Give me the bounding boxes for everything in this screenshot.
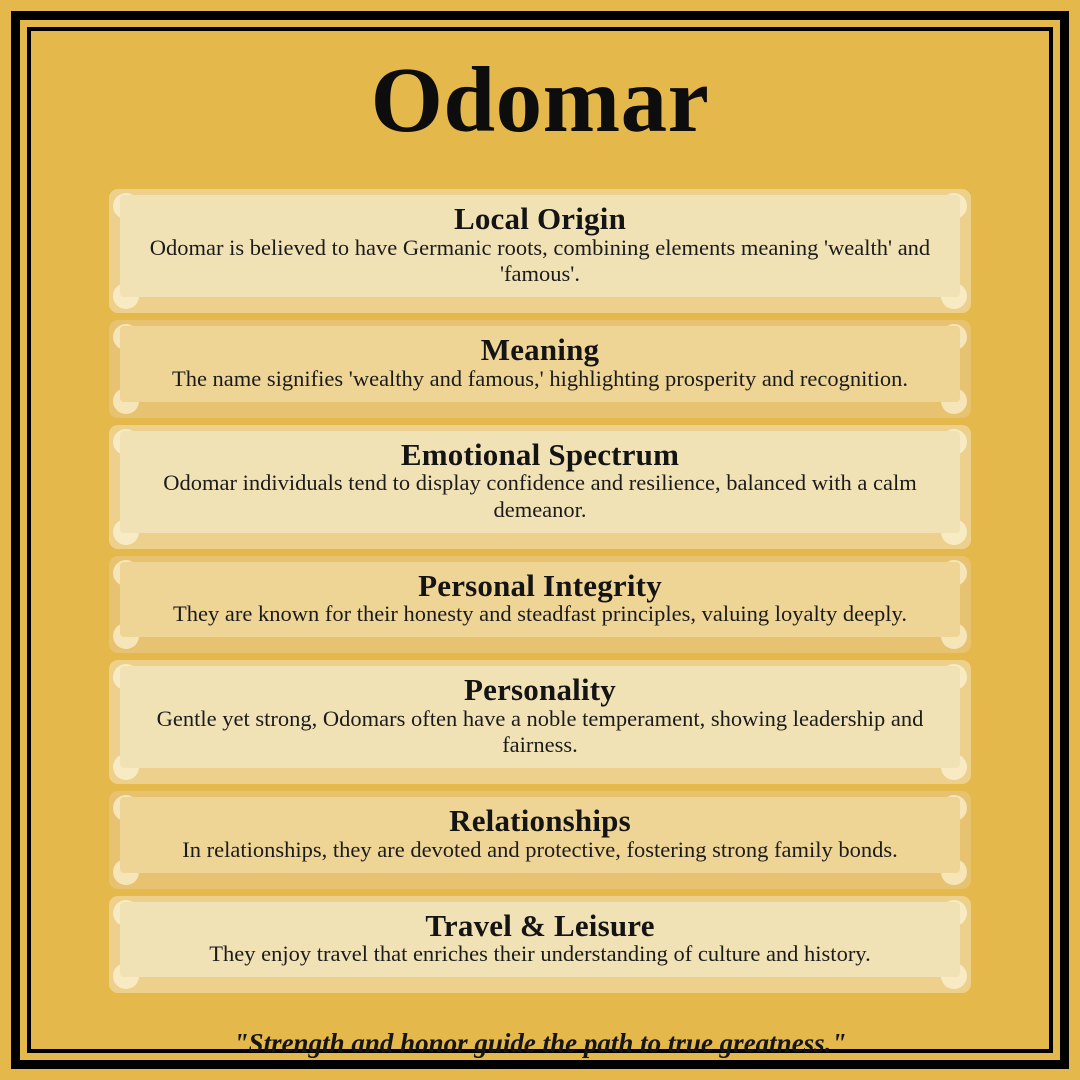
- attribute-card-title: Travel & Leisure: [134, 908, 946, 945]
- attribute-card-panel: MeaningThe name signifies 'wealthy and f…: [120, 326, 960, 402]
- attribute-card-panel: Travel & LeisureThey enjoy travel that e…: [120, 902, 960, 978]
- attribute-card: Personal IntegrityThey are known for the…: [109, 556, 971, 654]
- attribute-card-panel: PersonalityGentle yet strong, Odomars of…: [120, 666, 960, 768]
- attribute-card-text: In relationships, they are devoted and p…: [134, 837, 946, 863]
- footer-brand: MeaningOfName.co: [109, 1060, 971, 1080]
- page-title: Odomar: [371, 31, 710, 151]
- name-meaning-poster: Odomar Local OriginOdomar is believed to…: [0, 0, 1080, 1080]
- attribute-card-panel: Emotional SpectrumOdomar individuals ten…: [120, 431, 960, 533]
- attribute-card: MeaningThe name signifies 'wealthy and f…: [109, 320, 971, 418]
- attribute-card-title: Emotional Spectrum: [134, 437, 946, 474]
- attribute-card-text: Odomar individuals tend to display confi…: [134, 470, 946, 522]
- poster-footer: "Strength and honor guide the path to tr…: [109, 993, 971, 1080]
- footer-quote: "Strength and honor guide the path to tr…: [109, 993, 971, 1059]
- attribute-card: RelationshipsIn relationships, they are …: [109, 791, 971, 889]
- attribute-card-title: Meaning: [134, 332, 946, 369]
- attribute-card-title: Personal Integrity: [134, 568, 946, 605]
- attribute-card-stack: Local OriginOdomar is believed to have G…: [109, 189, 971, 993]
- attribute-card: Emotional SpectrumOdomar individuals ten…: [109, 425, 971, 549]
- attribute-card-title: Relationships: [134, 803, 946, 840]
- attribute-card-panel: Local OriginOdomar is believed to have G…: [120, 195, 960, 297]
- attribute-card: PersonalityGentle yet strong, Odomars of…: [109, 660, 971, 784]
- attribute-card-title: Personality: [134, 672, 946, 709]
- attribute-card-text: Odomar is believed to have Germanic root…: [134, 235, 946, 287]
- attribute-card-panel: RelationshipsIn relationships, they are …: [120, 797, 960, 873]
- attribute-card: Local OriginOdomar is believed to have G…: [109, 189, 971, 313]
- attribute-card-panel: Personal IntegrityThey are known for the…: [120, 562, 960, 638]
- poster-content: Odomar Local OriginOdomar is believed to…: [31, 31, 1049, 1049]
- attribute-card-text: They enjoy travel that enriches their un…: [134, 941, 946, 967]
- attribute-card-text: They are known for their honesty and ste…: [134, 601, 946, 627]
- attribute-card-text: Gentle yet strong, Odomars often have a …: [134, 706, 946, 758]
- attribute-card-title: Local Origin: [134, 201, 946, 238]
- attribute-card: Travel & LeisureThey enjoy travel that e…: [109, 896, 971, 994]
- attribute-card-text: The name signifies 'wealthy and famous,'…: [134, 366, 946, 392]
